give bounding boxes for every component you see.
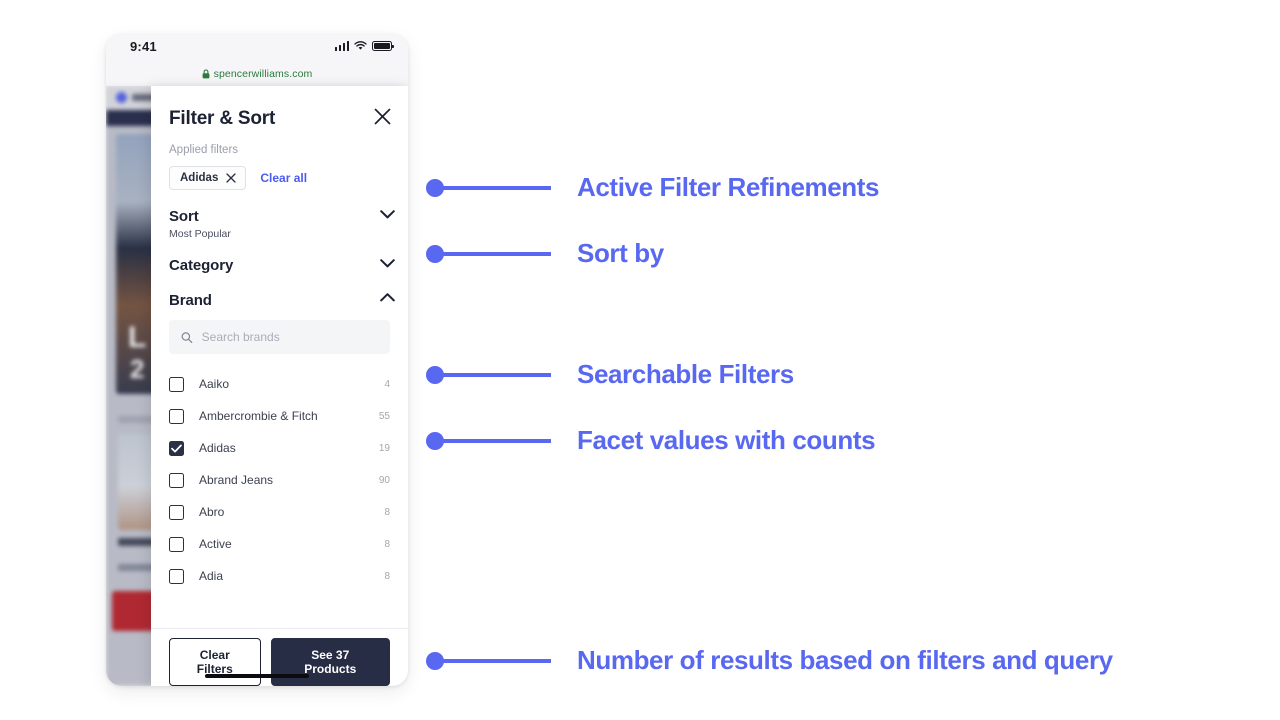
brand-count: 55 [379,411,390,422]
brand-name: Adidas [199,441,379,455]
see-products-button[interactable]: See 37 Products [271,638,390,686]
section-brand[interactable]: Brand [151,292,408,309]
search-icon [181,331,193,344]
annotation-line [443,659,551,663]
checkbox-unchecked[interactable] [169,473,184,488]
brand-count: 90 [379,475,390,486]
annotation-searchable-filters: Searchable Filters [426,359,794,390]
status-bar-time: 9:41 [130,39,157,54]
cellular-signal-icon [335,41,350,51]
annotation-facet-values-with-counts: Facet values with counts [426,425,875,456]
checkbox-checked[interactable] [169,441,184,456]
list-item[interactable]: Active 8 [169,528,390,560]
home-indicator [205,674,309,679]
annotation-dot [426,432,444,450]
brand-name: Adia [199,569,384,583]
brand-name: Ambercrombie & Fitch [199,409,379,423]
chevron-down-icon[interactable] [380,259,395,268]
annotation-label: Number of results based on filters and q… [577,645,1113,676]
brand-name: Aaiko [199,377,384,391]
check-icon [171,444,182,453]
brand-count: 8 [384,571,390,582]
checkbox-unchecked[interactable] [169,505,184,520]
annotation-dot [426,245,444,263]
annotation-line [443,439,551,443]
annotation-active-filter-refinements: Active Filter Refinements [426,172,879,203]
annotation-number-of-results: Number of results based on filters and q… [426,645,1113,676]
brand-count: 8 [384,507,390,518]
page-title: Filter & Sort [169,108,390,130]
list-item[interactable]: Adidas 19 [169,432,390,464]
annotation-line [443,373,551,377]
filter-sort-sheet: Filter & Sort Applied filters Adidas Cle… [151,86,408,686]
search-input[interactable] [202,330,378,344]
brand-name: Abrand Jeans [199,473,379,487]
brand-facet-list: Aaiko 4 Ambercrombie & Fitch 55 Adidas 1… [151,368,408,628]
close-button[interactable] [368,102,396,130]
annotation-label: Searchable Filters [577,359,794,390]
annotation-line [443,252,551,256]
annotation-label: Facet values with counts [577,425,875,456]
section-sort-title: Sort [169,208,390,225]
checkbox-unchecked[interactable] [169,569,184,584]
annotation-dot [426,652,444,670]
checkbox-unchecked[interactable] [169,377,184,392]
battery-icon [372,41,392,51]
list-item[interactable]: Abro 8 [169,496,390,528]
section-brand-title: Brand [169,292,390,309]
status-bar-icons [335,41,393,51]
chevron-down-icon[interactable] [380,210,395,219]
checkbox-unchecked[interactable] [169,537,184,552]
list-item[interactable]: Abrand Jeans 90 [169,464,390,496]
sheet-header: Filter & Sort [151,86,408,130]
section-category[interactable]: Category [151,257,408,274]
applied-filters-label: Applied filters [151,130,408,156]
annotation-dot [426,366,444,384]
annotation-label: Active Filter Refinements [577,172,879,203]
list-item[interactable]: Aaiko 4 [169,368,390,400]
brand-count: 8 [384,539,390,550]
brand-search-field[interactable] [169,320,390,354]
filter-chip-adidas[interactable]: Adidas [169,166,246,190]
annotation-dot [426,179,444,197]
lock-icon [202,69,210,79]
status-bar: 9:41 [106,34,408,62]
applied-filters-row: Adidas Clear all [151,156,408,190]
section-sort-value: Most Popular [169,228,390,240]
brand-name: Abro [199,505,384,519]
browser-url-bar[interactable]: spencerwilliams.com [106,62,408,86]
phone-mockup: 9:41 spencerwilliams.com L 2 [106,34,408,686]
annotation-line [443,186,551,190]
annotation-label: Sort by [577,238,664,269]
annotation-sort-by: Sort by [426,238,664,269]
clear-all-link[interactable]: Clear all [260,171,307,185]
close-icon [374,108,391,125]
url-text: spencerwilliams.com [214,68,313,80]
section-category-title: Category [169,257,390,274]
filter-chip-label: Adidas [180,172,218,184]
list-item[interactable]: Ambercrombie & Fitch 55 [169,400,390,432]
brand-name: Active [199,537,384,551]
close-icon[interactable] [226,173,236,183]
wifi-icon [354,41,367,51]
checkbox-unchecked[interactable] [169,409,184,424]
chevron-up-icon[interactable] [380,293,395,302]
section-sort[interactable]: Sort Most Popular [151,208,408,240]
clear-filters-button[interactable]: Clear Filters [169,638,261,686]
brand-count: 19 [379,443,390,454]
list-item[interactable]: Adia 8 [169,560,390,592]
brand-count: 4 [384,379,390,390]
